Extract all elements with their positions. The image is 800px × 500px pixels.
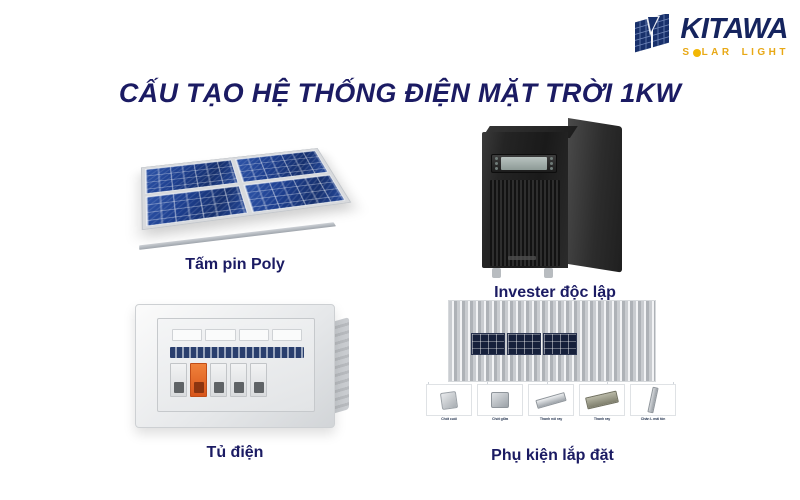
status-led-group-right: [550, 157, 553, 170]
ventilation-grille: [490, 180, 560, 266]
label-tag: [205, 329, 235, 341]
status-led-icon: [495, 162, 498, 165]
inverter-foot: [492, 268, 501, 278]
solar-panel-array-photo: [105, 122, 365, 250]
rail-icon: [579, 384, 625, 416]
label-tag: [272, 329, 302, 341]
caption-distribution-box: Tủ điện: [105, 444, 365, 462]
tagline-letter: L: [742, 47, 751, 58]
lcd-screen: [501, 157, 547, 170]
accessory-label: Thanh nối ray: [540, 417, 562, 421]
solar-panel-icon-svg: [633, 14, 675, 58]
brand-tagline: S L A R L I G H T: [680, 47, 788, 58]
component-accessories: Chốt cuối Chốt giữa Thanh nối ray: [420, 296, 685, 465]
accessory-label: Thanh ray: [594, 417, 610, 421]
tagline-letter: A: [711, 47, 721, 58]
caption-accessories: Phụ kiện lắp đặt: [420, 447, 685, 465]
poster-canvas: KITAWA S L A R L I G H T CẤU TẠO HỆ THỐN…: [0, 0, 800, 500]
inverter-front-panel: [482, 132, 568, 268]
status-led-group-left: [495, 157, 498, 170]
inverter-body: [482, 118, 632, 276]
corrugated-roof: [448, 300, 656, 382]
box-interior-panel: [157, 318, 315, 412]
tagline-letter: L: [702, 47, 711, 58]
tower-inverter-photo: [430, 118, 680, 278]
accessory-label: Chân L mái tôn: [641, 417, 666, 421]
pv-module: [543, 333, 577, 355]
tagline-letter: G: [757, 47, 767, 58]
circuit-breaker: [250, 363, 267, 397]
mid-clamp-icon: [477, 384, 523, 416]
tagline-letter: T: [779, 47, 788, 58]
label-strip: [172, 329, 302, 341]
tagline-letter: R: [722, 47, 732, 58]
status-led-icon: [550, 157, 553, 160]
component-distribution-box: Tủ điện: [105, 298, 365, 462]
accessory-l-foot: Chân L mái tôn: [630, 384, 676, 421]
inverter-brand-mark: [508, 256, 536, 260]
brand-wordmark: KITAWA S L A R L I G H T: [680, 15, 788, 58]
brand-logo: KITAWA S L A R L I G H T: [633, 14, 788, 58]
panel-array: [141, 148, 351, 230]
inverter-display: [491, 154, 557, 173]
status-led-icon: [495, 157, 498, 160]
solar-panel-icon: [633, 14, 675, 58]
status-led-icon: [495, 167, 498, 170]
page-title: CẤU TẠO HỆ THỐNG ĐIỆN MẶT TRỜI 1KW: [0, 78, 800, 109]
component-solar-panel: Tấm pin Poly: [105, 122, 365, 274]
circuit-breaker: [210, 363, 227, 397]
roof-mounted-modules: [471, 333, 577, 355]
terminal-block: [170, 347, 304, 358]
inverter-foot: [544, 268, 553, 278]
tagline-letter: I: [751, 47, 756, 58]
accessory-rail: Thanh ray: [579, 384, 625, 421]
accessory-end-clamp: Chốt cuối: [426, 384, 472, 421]
inverter-side-panel: [568, 118, 622, 273]
caption-solar-panel: Tấm pin Poly: [105, 256, 365, 274]
status-led-icon: [550, 162, 553, 165]
mounting-accessories-photo: Chốt cuối Chốt giữa Thanh nối ray: [420, 296, 685, 441]
brand-name: KITAWA: [680, 15, 788, 44]
pv-module: [471, 333, 505, 355]
pv-module: [507, 333, 541, 355]
accessory-thumbnails: Chốt cuối Chốt giữa Thanh nối ray: [426, 384, 676, 421]
label-tag: [172, 329, 202, 341]
component-grid: Tấm pin Poly: [0, 118, 800, 500]
accessory-label: Chốt cuối: [441, 417, 457, 421]
circuit-breaker: [170, 363, 187, 397]
pv-module: [145, 160, 238, 194]
accessory-rail-splice: Thanh nối ray: [528, 384, 574, 421]
component-inverter: Invester độc lập: [430, 118, 680, 302]
distribution-box-photo: [105, 298, 365, 438]
pv-module: [243, 175, 346, 213]
circuit-breaker-rcd: [190, 363, 207, 397]
status-led-icon: [550, 167, 553, 170]
accessory-label: Chốt giữa: [492, 417, 508, 421]
tagline-letter: S: [682, 47, 691, 58]
rail-splice-icon: [528, 384, 574, 416]
tagline-letter: H: [769, 47, 779, 58]
breaker-row: [170, 363, 267, 397]
circuit-breaker: [230, 363, 247, 397]
label-tag: [239, 329, 269, 341]
l-foot-icon: [630, 384, 676, 416]
accessory-mid-clamp: Chốt giữa: [477, 384, 523, 421]
sun-dot-icon: [693, 49, 701, 57]
end-clamp-icon: [426, 384, 472, 416]
distribution-box: [135, 304, 335, 428]
